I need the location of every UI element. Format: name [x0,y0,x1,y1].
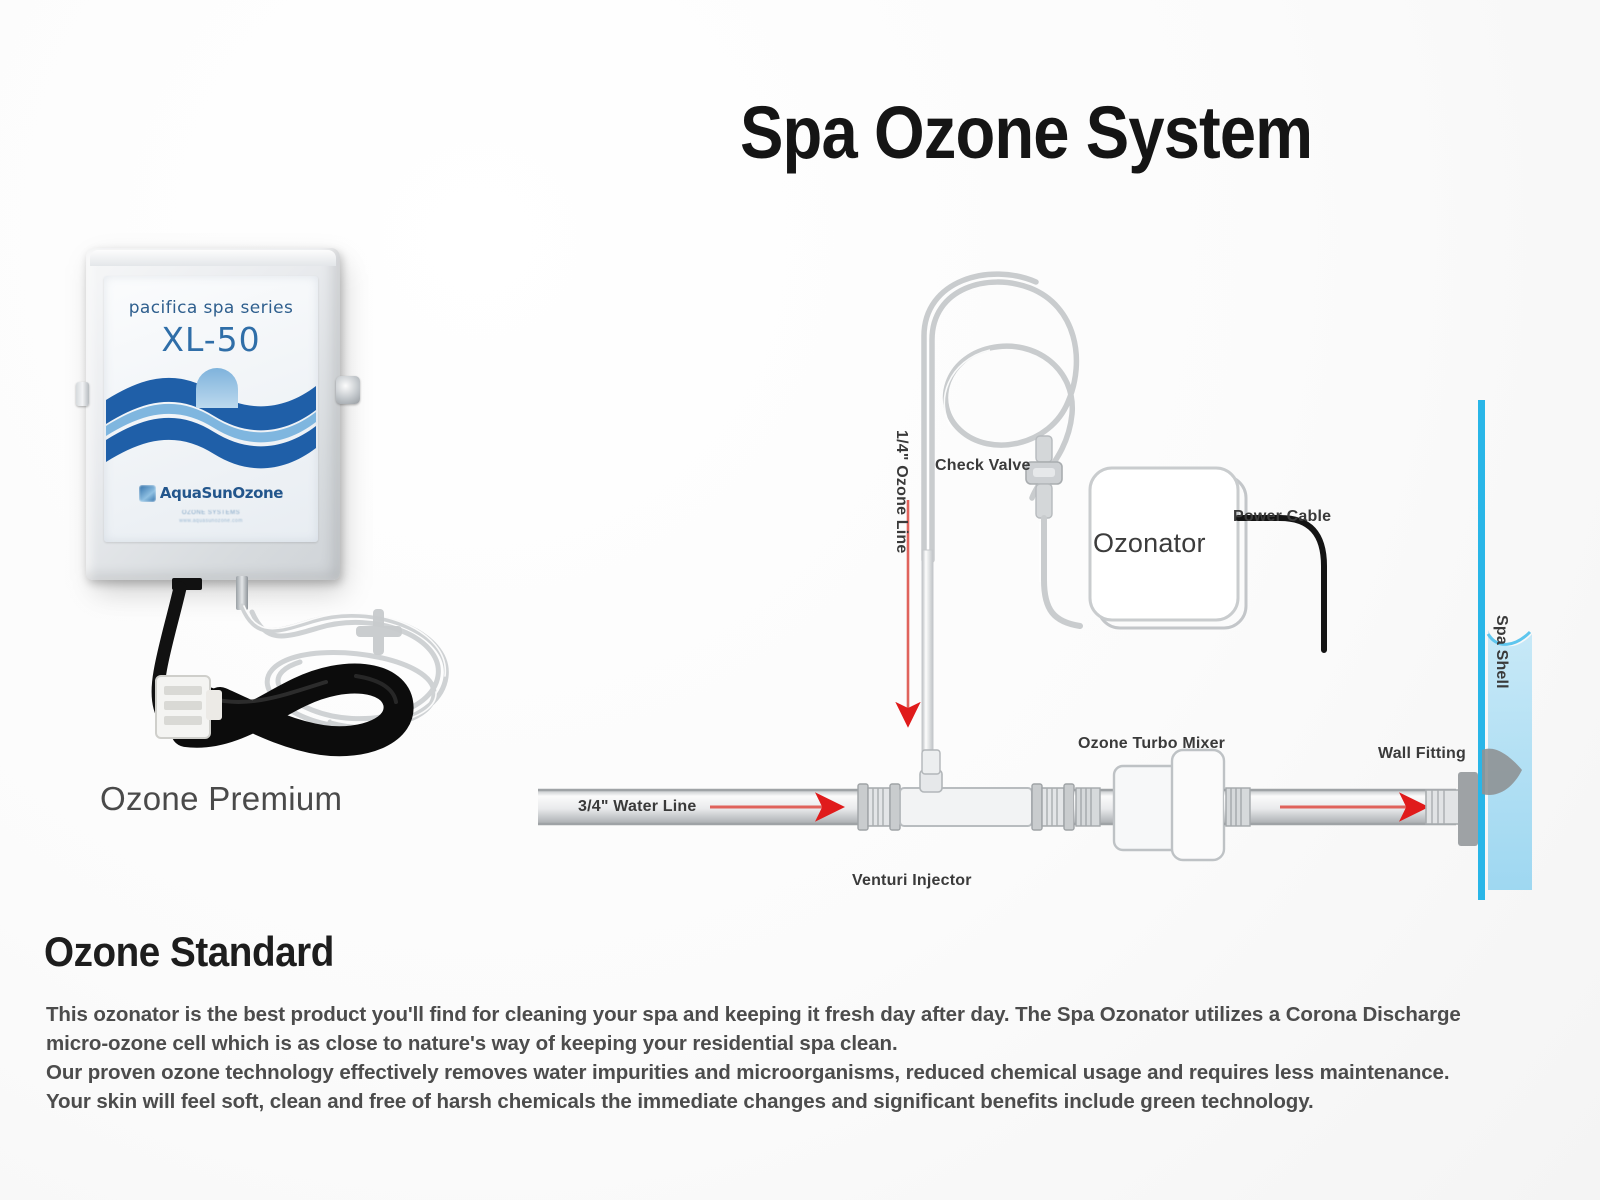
ozone-standard-heading: Ozone Standard [44,928,334,976]
label-venturi-injector: Venturi Injector [852,872,972,890]
label-water-line: 3/4" Water Line [578,798,696,816]
photo-caption: Ozone Premium [100,780,342,818]
schematic-drawing [520,250,1590,930]
label-wall-fitting: Wall Fitting [1378,745,1466,763]
label-power-cable: Power Cable [1233,508,1331,526]
label-check-valve: Check Valve [935,457,1031,475]
product-photo: pacifica spa series XL-50 AquaSunOzone O… [60,240,490,860]
wall-fitting-icon [1426,772,1478,846]
label-ozone-turbo-mixer: Ozone Turbo Mixer [1078,735,1225,753]
body-line-4: Your skin will feel soft, clean and free… [46,1087,1566,1116]
page-title: Spa Ozone System [740,96,1356,170]
pipe-collar-mixer-right [1226,788,1250,826]
pipe-union-right-injector [1032,784,1074,830]
label-spa-shell: Spa Shell [1492,615,1510,689]
venturi-injector-icon [900,750,1032,826]
check-valve-icon [1026,436,1062,518]
body-line-3: Our proven ozone technology effectively … [46,1058,1566,1087]
body-line-1: This ozonator is the best product you'll… [46,1000,1566,1029]
spa-ozone-schematic: 1/4" Ozone Line Check Valve Ozonator Pow… [520,250,1590,930]
ozone-turbo-mixer-icon [1114,750,1224,860]
pipe-collar-mixer-left [1076,788,1100,826]
ozone-standard-body: This ozonator is the best product you'll… [46,1000,1566,1116]
cross-fitting-icon [356,609,402,655]
label-ozonator: Ozonator [1093,528,1206,559]
ozone-tubing-highlight [928,342,990,550]
ozonator-inlet-tube [1044,518,1080,626]
power-cord [60,240,490,860]
pipe-union-left [858,784,900,830]
power-cable-line [1238,518,1324,650]
body-line-2: micro-ozone cell which is as close to na… [46,1029,1566,1058]
page-root: Spa Ozone System pacifica spa series XL-… [0,0,1600,1200]
label-ozone-line: 1/4" Ozone Line [892,430,910,554]
